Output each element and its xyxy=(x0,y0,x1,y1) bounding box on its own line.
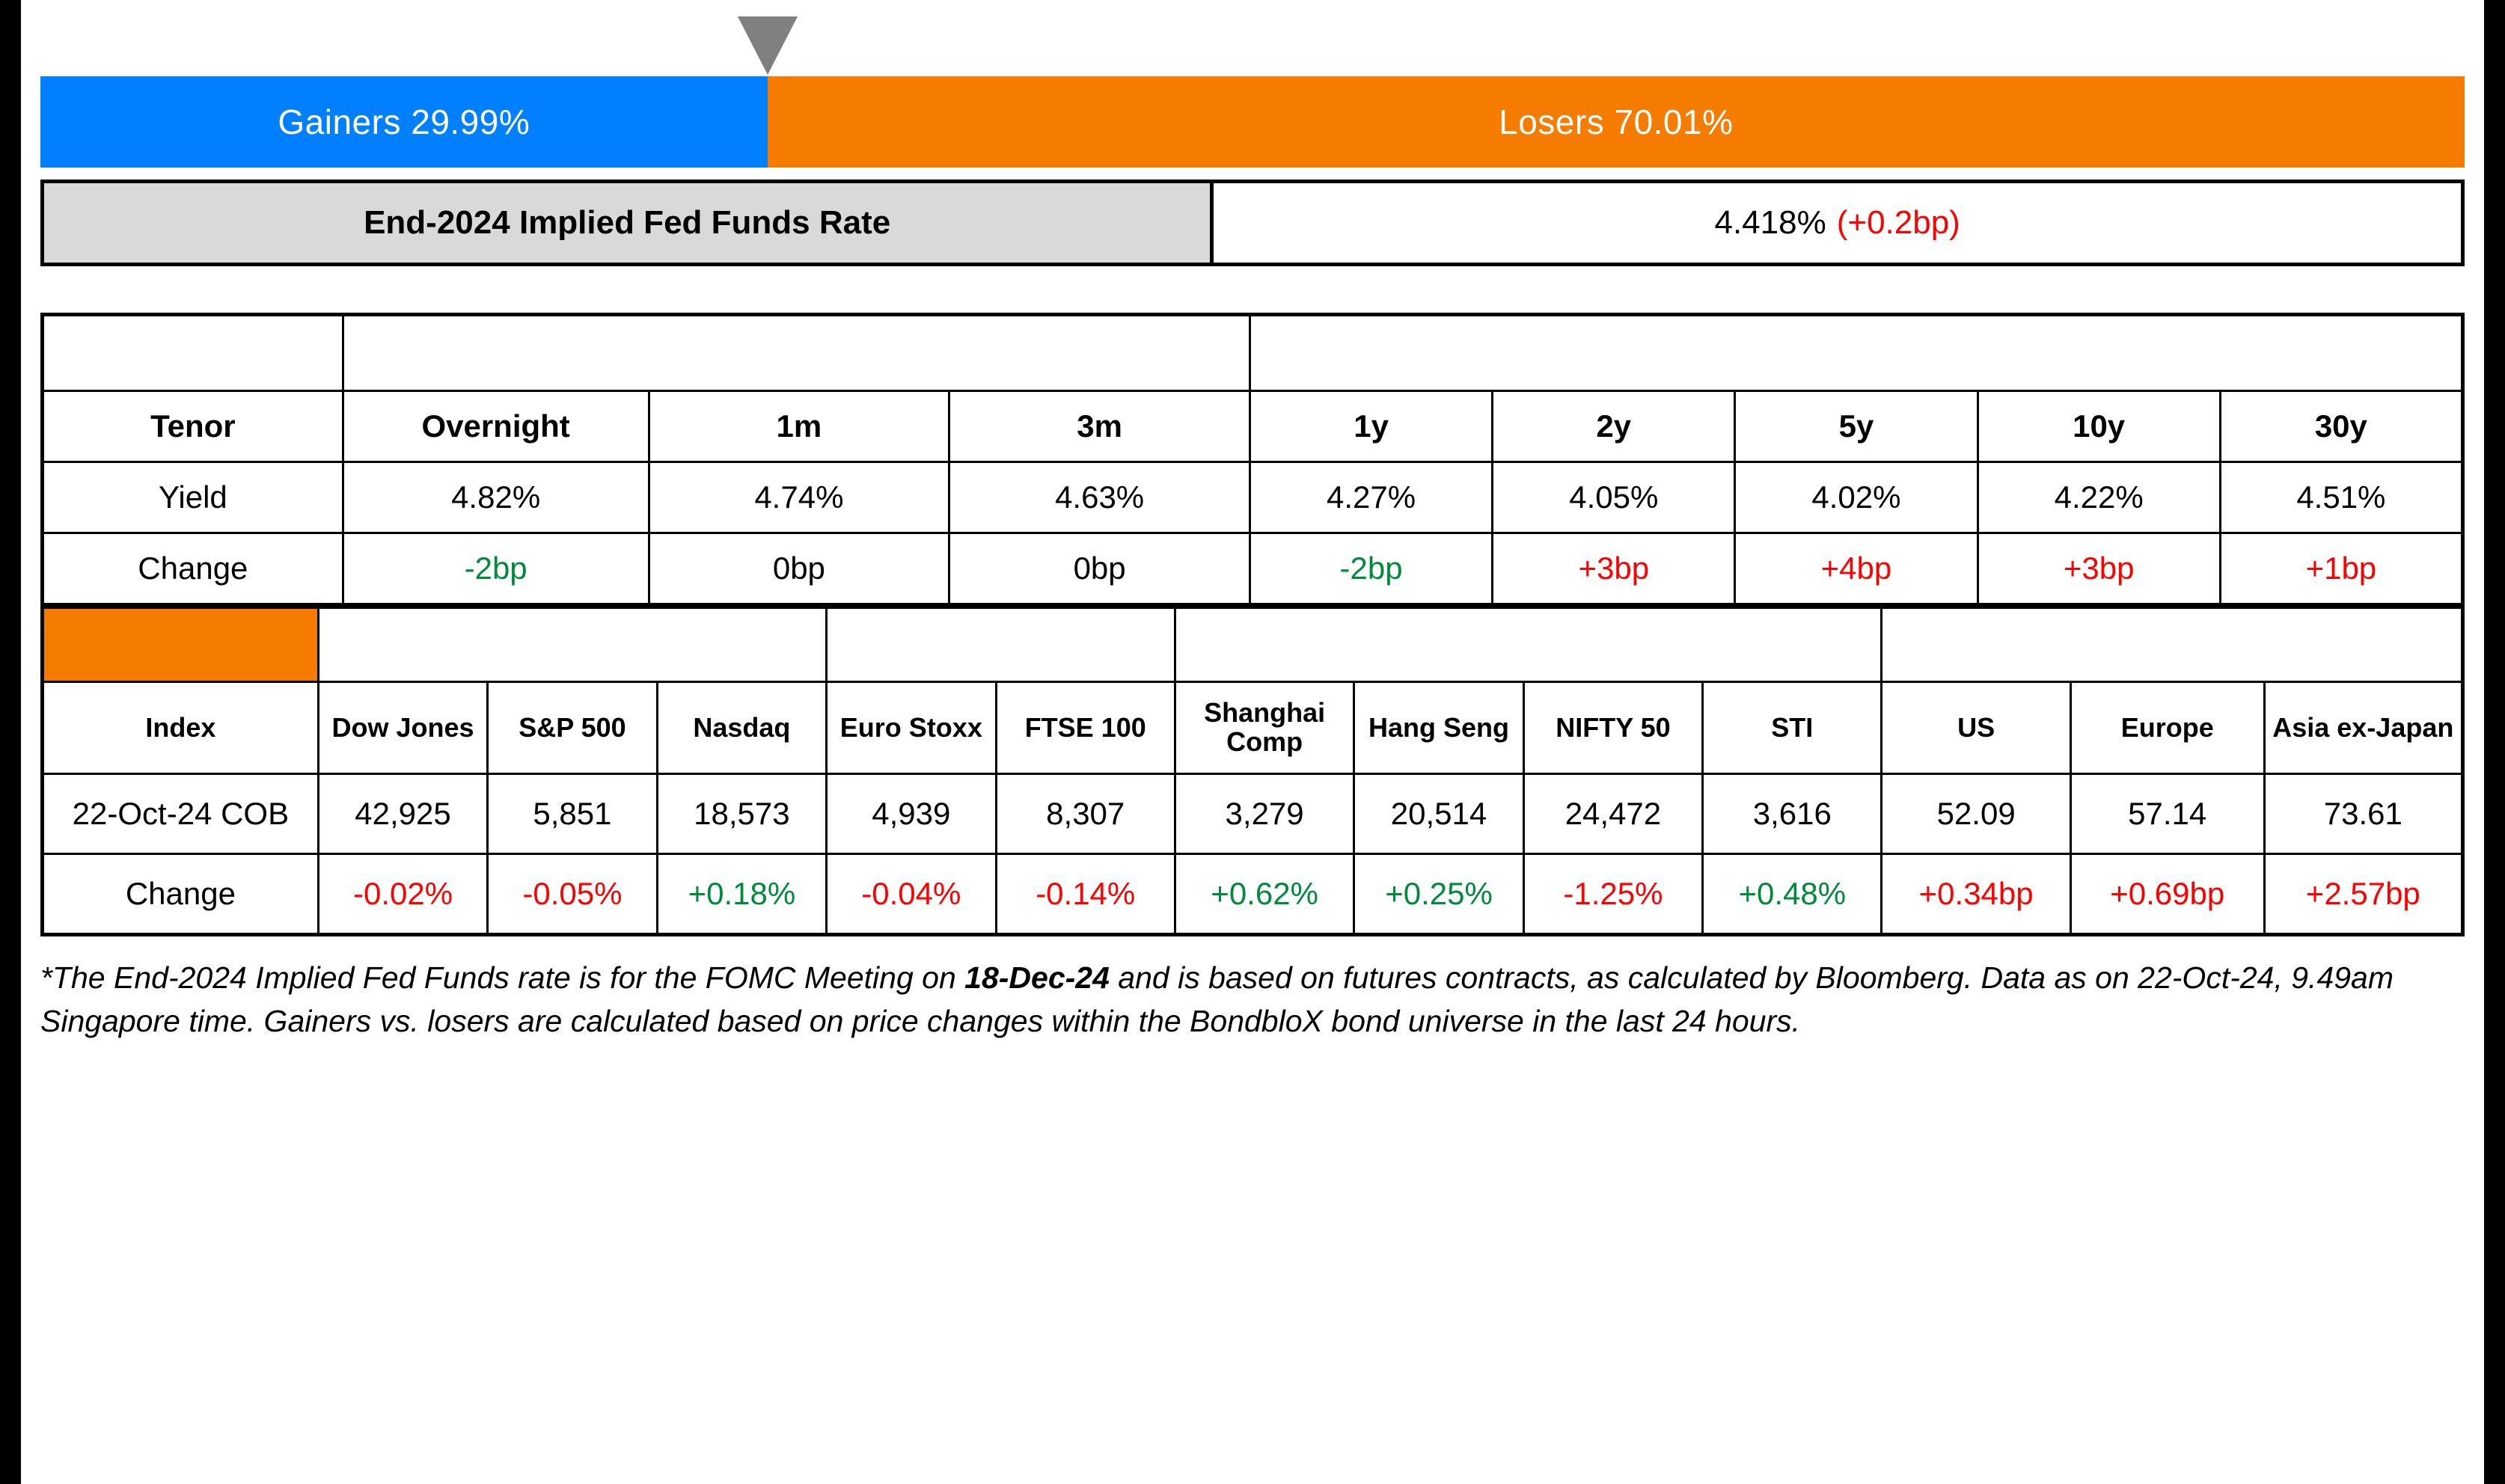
yield-row-label: Yield xyxy=(43,462,343,533)
footnote-fomc-date: 18-Dec-24 xyxy=(964,960,1110,995)
benchmark-table: Benchmark US SOFR US Treasury Tenor Over… xyxy=(40,313,2465,607)
change-sp-500: -0.05% xyxy=(488,854,657,935)
change-10y: +3bp xyxy=(1978,533,2220,605)
group-ig-cds-spreads: IG CDS Spreads xyxy=(1882,608,2463,682)
right-edge-bar xyxy=(2484,0,2505,1484)
value-dow-jones: 42,925 xyxy=(318,774,487,854)
change-nifty-50: -1.25% xyxy=(1523,854,1702,935)
group-europe-indices: Europe Indices xyxy=(827,608,1175,682)
yield-row: Yield 4.82% 4.74% 4.63% 4.27% 4.05% 4.02… xyxy=(43,462,2463,533)
change-cds-europe: +0.69bp xyxy=(2070,854,2264,935)
tenor-2y: 2y xyxy=(1493,391,1735,462)
yield-2y: 4.05% xyxy=(1493,462,1735,533)
change-nasdaq: +0.18% xyxy=(657,854,826,935)
tenor-3m: 3m xyxy=(949,391,1250,462)
change-cds-us: +0.34bp xyxy=(1882,854,2070,935)
change-euro-stoxx: -0.04% xyxy=(827,854,996,935)
change-2y: +3bp xyxy=(1493,533,1735,605)
tenor-10y: 10y xyxy=(1978,391,2220,462)
indices-group-blank xyxy=(43,608,319,682)
tenor-label: Tenor xyxy=(43,391,343,462)
tenor-30y: 30y xyxy=(2220,391,2462,462)
gainers-segment[interactable]: Gainers 29.99% xyxy=(40,76,768,168)
yield-1y: 4.27% xyxy=(1250,462,1492,533)
col-cds-europe: Europe xyxy=(2070,682,2264,774)
col-cds-us: US xyxy=(1882,682,2070,774)
value-sti: 3,616 xyxy=(1703,774,1882,854)
fed-funds-strip: End-2024 Implied Fed Funds Rate 4.418% (… xyxy=(40,180,2465,266)
yield-3m: 4.63% xyxy=(949,462,1250,533)
tenor-header-row: Tenor Overnight 1m 3m 1y 2y 5y 10y 30y xyxy=(43,391,2463,462)
change-dow-jones: -0.02% xyxy=(318,854,487,935)
group-us-indices: US Indices xyxy=(318,608,826,682)
yield-1m: 4.74% xyxy=(649,462,949,533)
losers-label: Losers 70.01% xyxy=(1499,102,1733,142)
change-1y: -2bp xyxy=(1250,533,1492,605)
benchmark-change-label: Change xyxy=(43,533,343,605)
tenor-5y: 5y xyxy=(1735,391,1978,462)
yield-overnight: 4.82% xyxy=(343,462,649,533)
col-ftse-100: FTSE 100 xyxy=(996,682,1175,774)
col-nifty-50: NIFTY 50 xyxy=(1523,682,1702,774)
col-dow-jones: Dow Jones xyxy=(318,682,487,774)
change-1m: 0bp xyxy=(649,533,949,605)
indices-value-row-label: 22-Oct-24 COB xyxy=(43,774,319,854)
yield-30y: 4.51% xyxy=(2220,462,2462,533)
tenor-overnight: Overnight xyxy=(343,391,649,462)
benchmark-group-label: Benchmark xyxy=(43,315,343,391)
col-nasdaq: Nasdaq xyxy=(657,682,826,774)
indices-table: US Indices Europe Indices Asia Indices I… xyxy=(40,607,2465,936)
footnote: *The End-2024 Implied Fed Funds rate is … xyxy=(40,956,2465,1043)
group-asia-indices: Asia Indices xyxy=(1175,608,1882,682)
change-3m: 0bp xyxy=(949,533,1250,605)
col-hang-seng: Hang Seng xyxy=(1354,682,1523,774)
value-euro-stoxx: 4,939 xyxy=(827,774,996,854)
change-hang-seng: +0.25% xyxy=(1354,854,1523,935)
indices-change-label: Change xyxy=(43,854,319,935)
yield-10y: 4.22% xyxy=(1978,462,2220,533)
change-5y: +4bp xyxy=(1735,533,1978,605)
col-euro-stoxx: Euro Stoxx xyxy=(827,682,996,774)
fed-funds-rate: 4.418% xyxy=(1714,204,1826,242)
change-overnight: -2bp xyxy=(343,533,649,605)
page-content: Gainers 29.99% Losers 70.01% End-2024 Im… xyxy=(21,0,2484,1484)
change-30y: +1bp xyxy=(2220,533,2462,605)
change-sti: +0.48% xyxy=(1703,854,1882,935)
index-label: Index xyxy=(43,682,319,774)
value-shanghai-comp: 3,279 xyxy=(1175,774,1354,854)
value-nasdaq: 18,573 xyxy=(657,774,826,854)
value-sp-500: 5,851 xyxy=(488,774,657,854)
indices-value-row: 22-Oct-24 COB 42,925 5,851 18,573 4,939 … xyxy=(43,774,2463,854)
col-cds-asia-ex-japan: Asia ex-Japan xyxy=(2264,682,2462,774)
fed-funds-label: End-2024 Implied Fed Funds Rate xyxy=(44,183,1214,263)
benchmark-change-row: Change -2bp 0bp 0bp -2bp +3bp +4bp +3bp … xyxy=(43,533,2463,605)
indices-header-row: Index Dow Jones S&P 500 Nasdaq Euro Stox… xyxy=(43,682,2463,774)
col-sp-500: S&P 500 xyxy=(488,682,657,774)
value-cds-europe: 57.14 xyxy=(2070,774,2264,854)
losers-segment[interactable]: Losers 70.01% xyxy=(768,76,2465,168)
value-nifty-50: 24,472 xyxy=(1523,774,1702,854)
yield-5y: 4.02% xyxy=(1735,462,1978,533)
value-cds-us: 52.09 xyxy=(1882,774,2070,854)
group-us-treasury: US Treasury xyxy=(1250,315,2462,391)
benchmark-group-row: Benchmark US SOFR US Treasury xyxy=(43,315,2463,391)
value-cds-asia-ex-japan: 73.61 xyxy=(2264,774,2462,854)
footnote-part-1: *The End-2024 Implied Fed Funds rate is … xyxy=(40,960,964,995)
tenor-1y: 1y xyxy=(1250,391,1492,462)
fed-funds-change: (+0.2bp) xyxy=(1837,204,1960,242)
gainers-losers-section: Gainers 29.99% Losers 70.01% xyxy=(40,6,2465,111)
col-shanghai-comp: Shanghai Comp xyxy=(1175,682,1354,774)
indices-change-row: Change -0.02% -0.05% +0.18% -0.04% -0.14… xyxy=(43,854,2463,935)
group-us-sofr: US SOFR xyxy=(343,315,1250,391)
col-sti: STI xyxy=(1703,682,1882,774)
sentiment-bar: Gainers 29.99% Losers 70.01% xyxy=(40,76,2465,168)
fed-funds-value-cell: 4.418% (+0.2bp) xyxy=(1214,183,2461,263)
tenor-1m: 1m xyxy=(649,391,949,462)
value-hang-seng: 20,514 xyxy=(1354,774,1523,854)
indices-group-row: US Indices Europe Indices Asia Indices I… xyxy=(43,608,2463,682)
left-edge-bar xyxy=(0,0,21,1484)
change-cds-asia-ex-japan: +2.57bp xyxy=(2264,854,2462,935)
change-ftse-100: -0.14% xyxy=(996,854,1175,935)
gainers-label: Gainers 29.99% xyxy=(278,102,530,142)
split-marker-triangle-icon xyxy=(738,16,798,75)
change-shanghai-comp: +0.62% xyxy=(1175,854,1354,935)
value-ftse-100: 8,307 xyxy=(996,774,1175,854)
